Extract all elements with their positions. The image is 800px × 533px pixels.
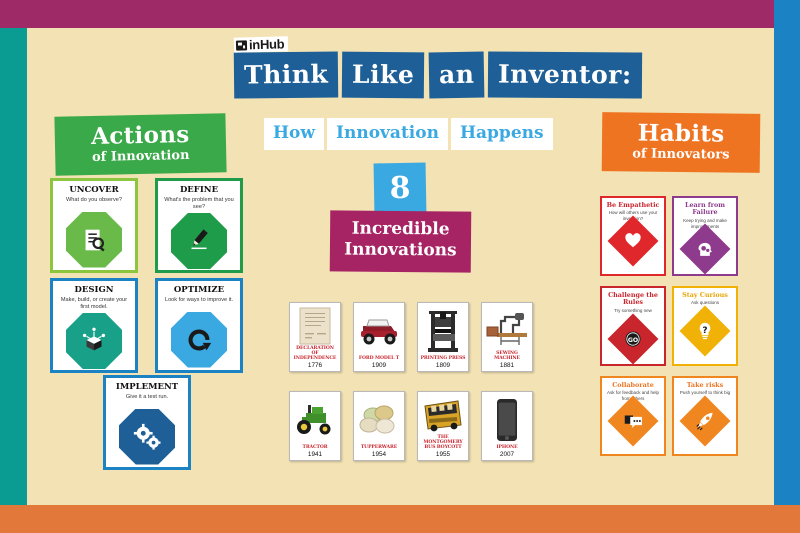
habits-banner: Habits of Innovators — [602, 112, 761, 173]
habits-banner-subtitle: of Innovators — [610, 147, 752, 161]
printing-press-art — [420, 306, 466, 356]
habit-card-title: Take risks — [677, 382, 733, 389]
innovation-card-year: 1955 — [420, 451, 466, 458]
sewing-machine-art — [484, 306, 530, 351]
innovation-card-year: 1941 — [292, 451, 338, 458]
rocket-icon — [680, 396, 731, 447]
subtitle-word-happens: Happens — [451, 118, 553, 150]
innovation-count-number: 8 — [389, 174, 410, 204]
chat-bubble-icon — [608, 396, 659, 447]
count-label-line1: Incredible — [334, 218, 467, 240]
frame-bar-left — [0, 28, 27, 505]
action-card-design[interactable]: DESIGNMake, build, or create your first … — [50, 278, 138, 373]
innovation-card-name: THE MONTGOMERY BUS BOYCOTT — [420, 435, 466, 450]
habit-card-title: Challenge the Rules — [605, 292, 661, 307]
actions-banner-subtitle: of Innovation — [63, 148, 218, 164]
innovation-card-year: 1809 — [420, 362, 466, 369]
habit-card-title: Collaborate — [605, 382, 661, 389]
habits-banner-title: Habits — [610, 121, 752, 145]
habit-card-title: Be Empathetic — [605, 202, 661, 209]
innovation-card-name: SEWING MACHINE — [484, 351, 530, 361]
subtitle-word-innovation: Innovation — [327, 118, 448, 150]
innovation-card-ford-model-t[interactable]: FORD MODEL T1909 — [353, 302, 405, 372]
habit-card-stay-curious[interactable]: Stay CuriousAsk questions? — [672, 286, 738, 366]
action-card-define[interactable]: DEFINEWhat's the problem that you see? — [155, 178, 243, 273]
innovation-card-name: PRINTING PRESS — [420, 356, 466, 361]
action-card-uncover[interactable]: UNCOVERWhat do you observe? — [50, 178, 138, 273]
frame-bar-top — [0, 0, 800, 28]
svg-text:?: ? — [702, 326, 707, 336]
innovation-card-tupperware[interactable]: TUPPERWARE1954 — [353, 391, 405, 461]
title-word-like: Like — [342, 52, 425, 99]
action-card-title: DESIGN — [56, 286, 132, 295]
title-word-think: Think — [234, 51, 339, 98]
action-card-title: UNCOVER — [56, 186, 132, 195]
innovation-card-tractor[interactable]: TRACTOR1941 — [289, 391, 341, 461]
innovation-card-year: 1776 — [292, 362, 338, 369]
count-label-line2: Innovations — [334, 240, 467, 262]
frame-bar-right — [774, 0, 800, 505]
green-tractor-art — [292, 395, 338, 445]
innovation-count-label: Incredible Innovations — [330, 210, 472, 272]
innovation-card-name: FORD MODEL T — [356, 356, 402, 361]
action-card-description: What do you observe? — [56, 197, 132, 210]
tupperware-lids-art — [356, 395, 402, 445]
cube-node-icon — [66, 313, 122, 369]
innovation-card-name: TRACTOR — [292, 445, 338, 450]
innovation-card-declaration-of-independence[interactable]: DECLARATION OF INDEPENDENCE1776 — [289, 302, 341, 372]
habit-card-challenge-the-rules[interactable]: Challenge the RulesTry something newGO — [600, 286, 666, 366]
refresh-arrow-icon — [171, 312, 227, 368]
habit-card-collaborate[interactable]: CollaborateAsk for feedback and help fro… — [600, 376, 666, 456]
action-card-title: OPTIMIZE — [161, 286, 237, 295]
title-word-inventor: Inventor: — [488, 51, 642, 98]
action-card-title: IMPLEMENT — [109, 383, 185, 392]
action-card-description: Make, build, or create your first model. — [56, 297, 132, 312]
head-gears-icon — [680, 223, 731, 274]
svg-text:GO: GO — [628, 336, 638, 343]
heart-signal-icon — [608, 216, 659, 267]
innovation-card-year: 1954 — [356, 451, 402, 458]
title-word-an: an — [428, 52, 484, 99]
question-bulb-icon: ? — [680, 306, 731, 357]
habit-card-title: Learn from Failure — [677, 202, 733, 217]
innovation-card-sewing-machine[interactable]: SEWING MACHINE1881 — [481, 302, 533, 372]
innovation-card-printing-press[interactable]: PRINTING PRESS1809 — [417, 302, 469, 372]
innovation-card-iphone[interactable]: IPHONE2007 — [481, 391, 533, 461]
frame-bar-bottom — [0, 505, 800, 533]
inhub-logo-icon — [236, 40, 247, 50]
action-card-implement[interactable]: IMPLEMENTGive it a test run. — [103, 375, 191, 470]
parchment-document-art — [292, 306, 338, 346]
innovation-card-year: 2007 — [484, 451, 530, 458]
stop-sign-icon: GO — [608, 313, 659, 364]
innovation-card-the-montgomery-bus-boycott[interactable]: THE MONTGOMERY BUS BOYCOTT1955 — [417, 391, 469, 461]
habit-card-take-risks[interactable]: Take risksPush yourself to think big — [672, 376, 738, 456]
innovation-card-name: DECLARATION OF INDEPENDENCE — [292, 346, 338, 361]
action-card-description: What's the problem that you see? — [161, 197, 237, 212]
action-card-description: Look for ways to improve it. — [161, 297, 237, 310]
antique-car-art — [356, 306, 402, 356]
habit-card-title: Stay Curious — [677, 292, 733, 299]
vintage-bus-art — [420, 395, 466, 435]
subtitle-word-how: How — [264, 118, 324, 150]
poster-canvas: inHub Think Like an Inventor: How Innova… — [0, 0, 800, 533]
actions-banner-title: Actions — [63, 122, 218, 148]
poster-title: Think Like an Inventor: — [234, 52, 642, 98]
inhub-logo: inHub — [234, 36, 289, 52]
inhub-logo-text: inHub — [249, 37, 285, 51]
habit-card-be-empathetic[interactable]: Be EmpatheticHow will others use your in… — [600, 196, 666, 276]
gears-icon — [119, 409, 175, 465]
document-search-icon — [66, 212, 122, 268]
habit-card-learn-from-failure[interactable]: Learn from FailureKeep trying and make i… — [672, 196, 738, 276]
innovation-card-year: 1881 — [484, 362, 530, 369]
action-card-title: DEFINE — [161, 186, 237, 195]
innovation-card-name: IPHONE — [484, 445, 530, 450]
smartphone-art — [484, 395, 530, 445]
innovation-count-badge: 8 — [374, 163, 427, 216]
action-card-description: Give it a test run. — [109, 394, 185, 407]
innovation-card-name: TUPPERWARE — [356, 445, 402, 450]
pencil-icon — [171, 213, 227, 269]
action-card-optimize[interactable]: OPTIMIZELook for ways to improve it. — [155, 278, 243, 373]
poster-subtitle: How Innovation Happens — [264, 118, 553, 150]
innovation-card-year: 1909 — [356, 362, 402, 369]
actions-banner: Actions of Innovation — [54, 113, 226, 176]
